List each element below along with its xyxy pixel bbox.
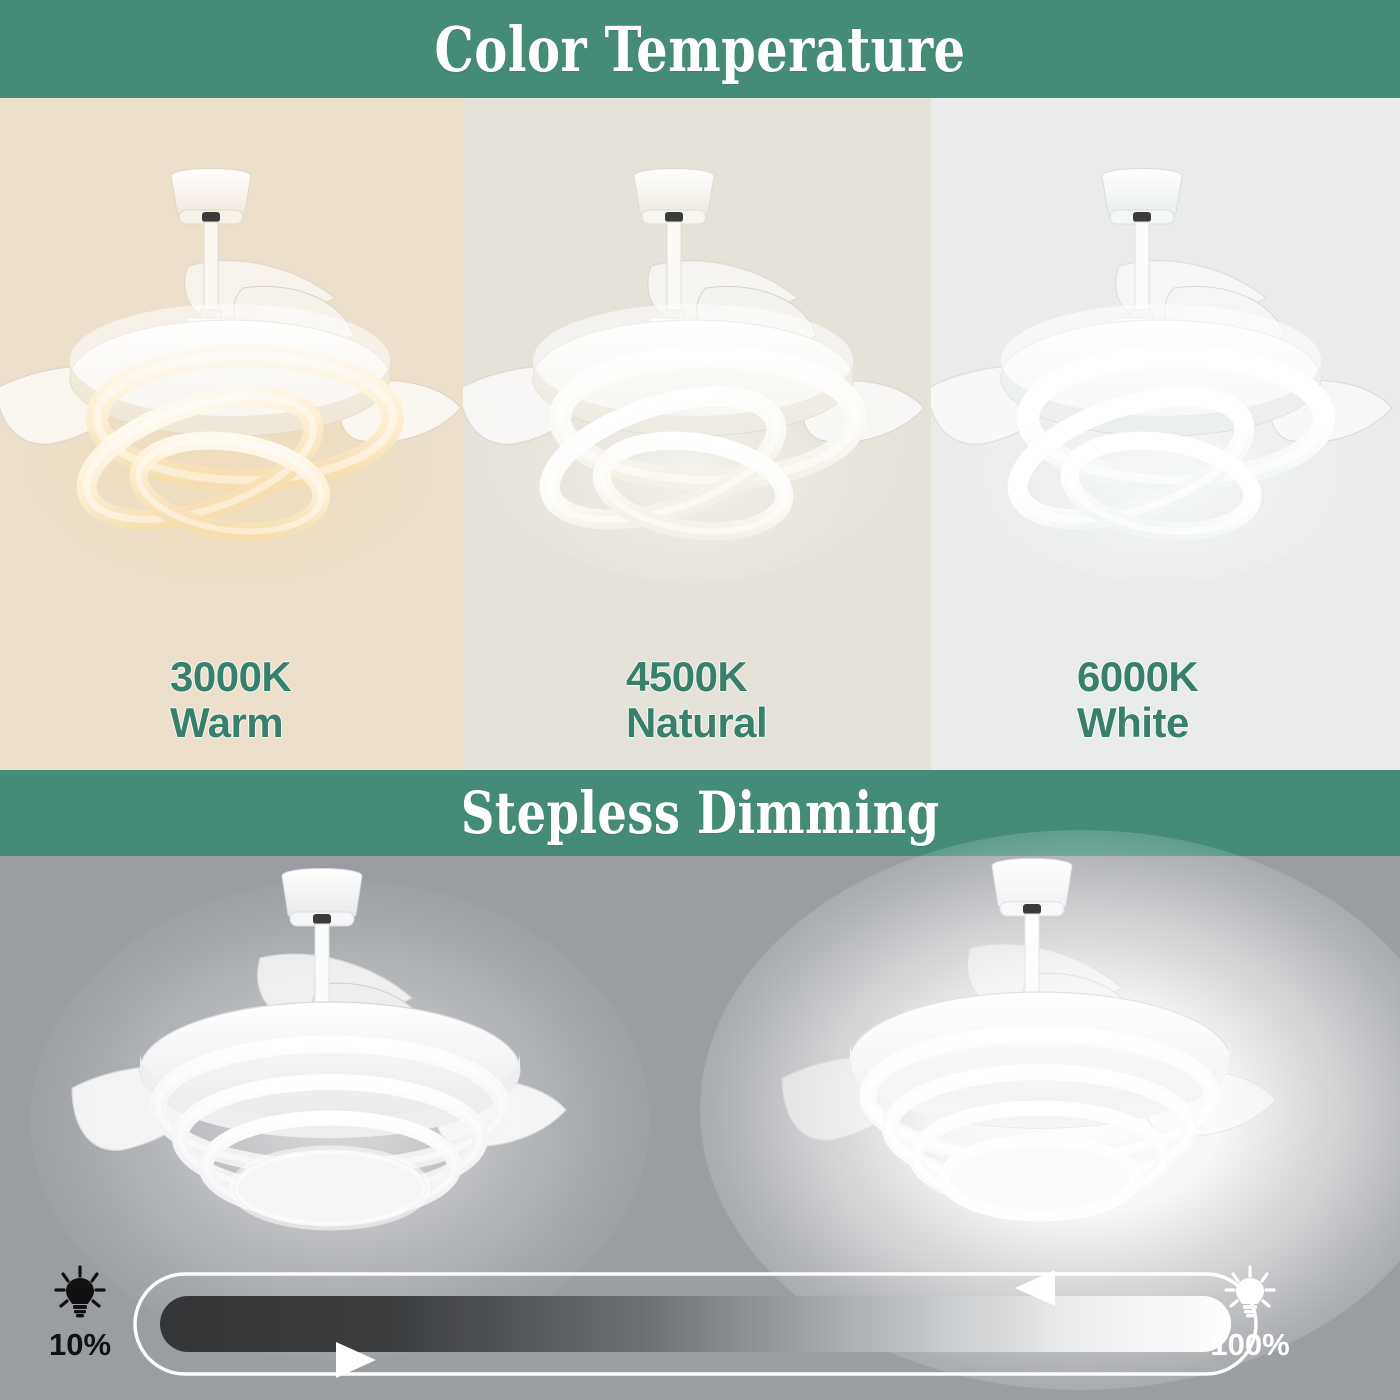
infographic-page: Color Temperature (0, 0, 1400, 1400)
ceiling-fan-image-bright (770, 860, 1310, 1260)
ceiling-fan-image-6000k (931, 168, 1396, 598)
ceiling-fan-image-4500k (463, 168, 928, 598)
dimming-max-label: 100% (1175, 1329, 1325, 1360)
color-temperature-caption-6000k: 6000K White (931, 654, 1400, 746)
color-temperature-strip: 3000K Warm (0, 98, 1400, 770)
stepless-dimming-title: Stepless Dimming (461, 779, 940, 847)
led-ring-stack (850, 992, 1230, 1216)
color-temperature-panel-6000k: 6000K White (931, 98, 1400, 770)
ceiling-fan-image-dimmed (60, 870, 600, 1270)
kelvin-value-6000k: 6000K (1077, 654, 1400, 700)
dimming-slider-row[interactable]: 10% (0, 1258, 1400, 1388)
led-ring-stack (140, 1002, 520, 1226)
kelvin-name-6000k: White (1077, 700, 1400, 746)
color-temperature-banner: Color Temperature (0, 0, 1400, 98)
color-temperature-panel-3000k: 3000K Warm (0, 98, 463, 770)
stepless-dimming-banner: Stepless Dimming (0, 770, 1400, 856)
color-temperature-caption-4500k: 4500K Natural (463, 654, 931, 746)
dimming-slider-track[interactable] (133, 1272, 1258, 1376)
dimming-max-group: 100% (1175, 1258, 1325, 1360)
kelvin-name-4500k: Natural (626, 700, 931, 746)
kelvin-value-4500k: 4500K (626, 654, 931, 700)
kelvin-name-3000k: Warm (170, 700, 463, 746)
ceiling-fan-image-3000k (0, 168, 463, 598)
slider-gradient-bar (160, 1296, 1231, 1352)
kelvin-value-3000k: 3000K (170, 654, 463, 700)
color-temperature-caption-3000k: 3000K Warm (0, 654, 463, 746)
lightbulb-bright-icon (1175, 1264, 1325, 1327)
color-temperature-title: Color Temperature (434, 13, 965, 86)
color-temperature-panel-4500k: 4500K Natural (463, 98, 931, 770)
